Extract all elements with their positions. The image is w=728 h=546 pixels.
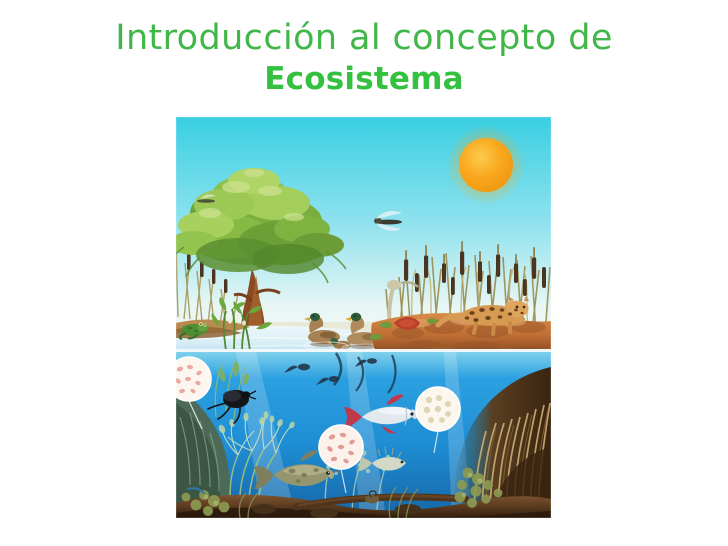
- cattail-head: [523, 279, 527, 296]
- cattail-head: [487, 275, 491, 294]
- sun-icon: [446, 125, 526, 205]
- page-title: Introducción al concepto de Ecosistema: [0, 0, 728, 98]
- cattail-head: [451, 277, 455, 295]
- ecosystem-illustration: [176, 117, 551, 518]
- ecosystem-svg: [176, 117, 551, 518]
- cattail-head: [542, 267, 546, 288]
- underwater-scene: [176, 352, 551, 518]
- cattail-head: [415, 273, 419, 292]
- page-title-line-1: Introducción al concepto de: [0, 18, 728, 59]
- page-title-line-2: Ecosistema: [0, 61, 728, 98]
